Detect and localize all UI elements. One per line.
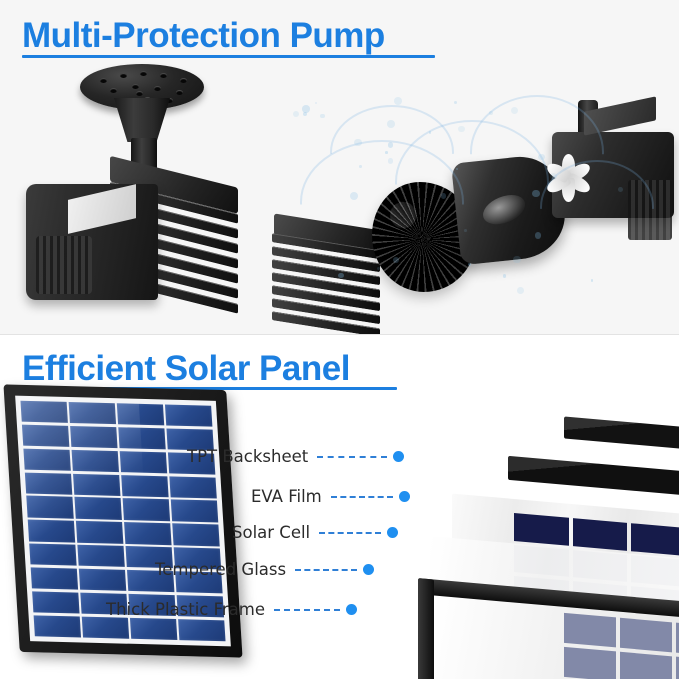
callout-dot [399, 491, 410, 502]
solar-cell [70, 426, 117, 449]
solar-cell [171, 500, 218, 523]
solar-cell [69, 402, 116, 425]
solar-cell [29, 544, 76, 567]
solar-cell [119, 427, 166, 450]
frame-cell-grid [564, 613, 679, 679]
solar-cell [72, 450, 119, 473]
solar-cell [178, 619, 225, 642]
solar-cell [165, 405, 212, 428]
callout-dot [393, 451, 404, 462]
solar-section-heading: Efficient Solar Panel [22, 349, 350, 389]
frame-solar-cell [564, 613, 616, 648]
solar-cell [77, 545, 124, 568]
layer-tpt-backsheet [564, 416, 679, 451]
nozzle-hole [154, 86, 161, 91]
water-droplet [359, 165, 362, 168]
solar-cell [82, 616, 129, 639]
callout-leader-line [295, 569, 357, 571]
solar-cell [76, 521, 123, 544]
solar-cell [20, 401, 67, 424]
callout-label: TPT Backsheet [187, 447, 308, 466]
callout-leader-line [319, 532, 381, 534]
water-droplet [468, 263, 471, 266]
water-droplet [532, 190, 540, 198]
callout-leader-line [274, 609, 340, 611]
callout-eva-film: EVA Film [251, 487, 410, 506]
water-droplet [454, 101, 458, 105]
water-droplet [429, 131, 432, 134]
solar-cell [121, 475, 168, 498]
sprinkler-neck [114, 98, 170, 142]
solar-cell [23, 448, 70, 471]
water-droplet [315, 102, 317, 104]
nozzle-hole [140, 71, 147, 76]
callout-leader-line [331, 496, 393, 498]
solar-cell [75, 497, 122, 520]
solar-cell [22, 425, 69, 448]
pump-section: Multi-Protection Pump [0, 0, 679, 335]
product-infographic: Multi-Protection Pump [0, 0, 679, 679]
nozzle-hole [180, 78, 187, 83]
frame-solar-cell [564, 647, 616, 679]
diagram-solar-cell [631, 523, 679, 555]
pump-section-heading: Multi-Protection Pump [22, 16, 385, 56]
water-droplet [387, 120, 395, 128]
callout-solar-cell: Solar Cell [232, 523, 398, 542]
pump-heading-underline [22, 55, 435, 58]
water-droplet [388, 142, 393, 147]
nozzle-hole [110, 88, 117, 93]
callout-dot [346, 604, 357, 615]
frame-left-bar [418, 578, 434, 679]
assembled-pump-image [18, 62, 268, 334]
water-droplet [503, 274, 507, 278]
callout-tpt-backsheet: TPT Backsheet [187, 447, 404, 466]
water-droplet [388, 158, 393, 163]
nozzle-hole [132, 84, 139, 89]
frame-solar-cell [620, 652, 672, 679]
water-droplet [303, 112, 307, 116]
solar-cell [32, 591, 79, 614]
pump-housing [26, 184, 158, 300]
solar-cell [124, 522, 171, 545]
water-droplet [293, 111, 299, 117]
solar-cell [173, 524, 220, 547]
callout-tempered-glass: Tempered Glass [155, 560, 374, 579]
water-droplet [591, 279, 594, 282]
water-droplet [458, 126, 465, 133]
water-droplet [513, 256, 520, 263]
water-droplet [441, 193, 446, 198]
callout-thick-plastic-frame: Thick Plastic Frame [106, 600, 357, 619]
solar-cell [34, 615, 81, 638]
solar-cell [117, 403, 164, 426]
water-droplet [320, 114, 324, 118]
water-droplet [535, 232, 542, 239]
solar-cell [25, 472, 72, 495]
callout-label: Thick Plastic Frame [106, 600, 265, 619]
solar-cell [123, 498, 170, 521]
layer-eva-film [508, 456, 679, 498]
frame-solar-cell [620, 618, 672, 653]
water-droplet [618, 187, 623, 192]
solar-cell [31, 567, 78, 590]
exploded-filter-cage [272, 213, 384, 335]
solar-cell [130, 617, 177, 640]
solar-cell [73, 473, 120, 496]
solar-cell [79, 569, 126, 592]
callout-label: Tempered Glass [155, 560, 286, 579]
diagram-solar-cell [573, 518, 628, 550]
water-droplet [377, 267, 380, 270]
callout-dot [363, 564, 374, 575]
solar-cell [120, 451, 167, 474]
water-droplet [354, 139, 361, 146]
callout-leader-line [317, 456, 387, 458]
pump-spec-label [68, 184, 136, 234]
water-droplet [394, 97, 402, 105]
solar-cell [28, 520, 75, 543]
diagram-solar-cell [514, 513, 569, 545]
nozzle-hole [120, 73, 127, 78]
solar-cell [26, 496, 73, 519]
panel-layer-diagram [404, 430, 679, 679]
water-droplet [517, 287, 524, 294]
pump-housing-ribs [36, 236, 92, 294]
solar-cell [170, 476, 217, 499]
callout-dot [387, 527, 398, 538]
water-droplet [464, 229, 467, 232]
nozzle-hole [160, 73, 167, 78]
callout-label: EVA Film [251, 487, 322, 506]
nozzle-hole [176, 90, 183, 95]
solar-section: Efficient Solar Panel [0, 335, 679, 679]
nozzle-hole [136, 91, 143, 96]
nozzle-hole [100, 78, 107, 83]
callout-label: Solar Cell [232, 523, 310, 542]
